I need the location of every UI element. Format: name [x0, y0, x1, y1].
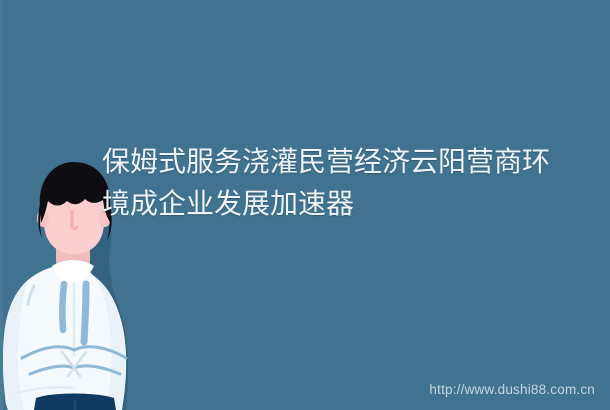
page-title: 保姆式服务浇灌民营经济云阳营商环境成企业发展加速器	[102, 141, 572, 225]
left-edge-strip	[0, 0, 3, 410]
drawstring-left	[62, 284, 64, 330]
pants	[34, 394, 116, 410]
news-thumbnail-card: 保姆式服务浇灌民营经济云阳营商环境成企业发展加速器 http://www.dus…	[0, 0, 610, 410]
watermark-url: http://www.dushi88.com.cn	[429, 382, 595, 397]
drawstring-right	[84, 284, 86, 342]
